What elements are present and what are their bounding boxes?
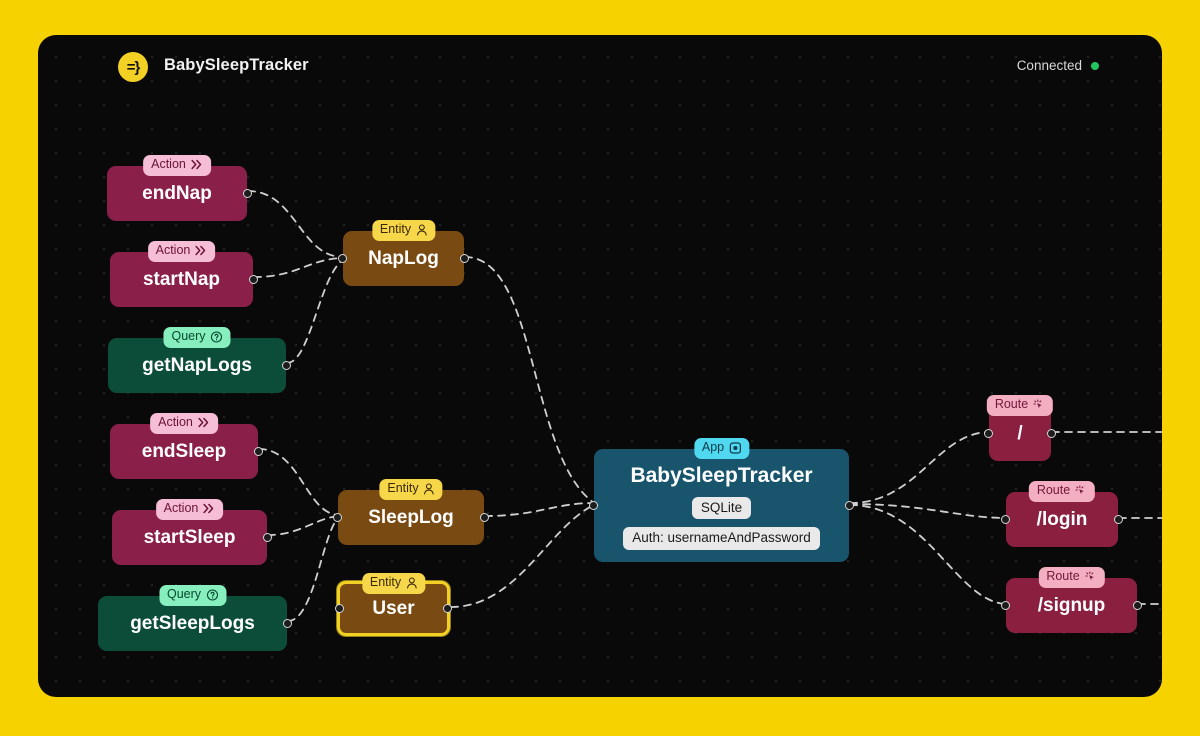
node-startSleep[interactable]: Action startSleep <box>112 510 267 565</box>
cursor-click-icon <box>1085 571 1097 583</box>
node-endNap[interactable]: Action endNap <box>107 166 247 221</box>
node-title: startNap <box>143 269 220 291</box>
badge-route: Route <box>1038 567 1104 588</box>
node-title: /login <box>1037 509 1088 531</box>
port-right[interactable] <box>443 604 452 613</box>
node-startNap[interactable]: Action startNap <box>110 252 253 307</box>
badge-label: App <box>702 440 724 456</box>
port-left[interactable] <box>589 501 598 510</box>
chevrons-right-icon <box>191 159 203 170</box>
node-title: endSleep <box>142 441 226 463</box>
node-route-root[interactable]: Route / <box>989 406 1051 461</box>
port-left[interactable] <box>984 429 993 438</box>
cursor-click-icon <box>1075 485 1087 497</box>
badge-label: Query <box>171 329 205 345</box>
status-indicator-dot <box>1091 62 1099 70</box>
node-title: NapLog <box>368 248 439 270</box>
port-left[interactable] <box>338 254 347 263</box>
user-icon <box>424 483 435 495</box>
page-title: BabySleepTracker <box>164 56 309 75</box>
badge-label: Entity <box>387 481 418 497</box>
badge-label: Action <box>158 415 193 431</box>
node-title: / <box>1017 423 1022 445</box>
status-label: Connected <box>1017 58 1082 73</box>
chevrons-right-icon <box>195 245 207 256</box>
badge-action: Action <box>143 155 211 176</box>
port-right[interactable] <box>845 501 854 510</box>
node-title: startSleep <box>144 527 236 549</box>
chevrons-right-icon <box>198 417 210 428</box>
node-title: endNap <box>142 183 212 205</box>
badge-label: Action <box>164 501 199 517</box>
badge-query: Query <box>159 585 226 606</box>
badge-entity: Entity <box>372 220 435 241</box>
badge-label: Action <box>156 243 191 259</box>
app-square-icon <box>729 442 741 454</box>
node-endSleep[interactable]: Action endSleep <box>110 424 258 479</box>
port-right[interactable] <box>254 447 263 456</box>
port-right[interactable] <box>283 619 292 628</box>
port-right[interactable] <box>282 361 291 370</box>
badge-entity: Entity <box>379 479 442 500</box>
badge-label: Route <box>1046 569 1079 585</box>
badge-label: Route <box>1037 483 1070 499</box>
badge-route: Route <box>1029 481 1095 502</box>
badge-label: Entity <box>380 222 411 238</box>
node-User[interactable]: Entity User <box>337 581 450 636</box>
question-circle-icon <box>206 589 218 601</box>
port-right[interactable] <box>1114 515 1123 524</box>
node-title: /signup <box>1038 595 1106 617</box>
node-NapLog[interactable]: Entity NapLog <box>343 231 464 286</box>
port-left[interactable] <box>1001 515 1010 524</box>
badge-query: Query <box>163 327 230 348</box>
node-title: getSleepLogs <box>130 613 255 635</box>
chevrons-right-icon <box>203 503 215 514</box>
node-SleepLog[interactable]: Entity SleepLog <box>338 490 484 545</box>
node-title: getNapLogs <box>142 355 252 377</box>
port-left[interactable] <box>1001 601 1010 610</box>
node-getNapLogs[interactable]: Query getNapLogs <box>108 338 286 393</box>
user-icon <box>406 577 417 589</box>
badge-entity: Entity <box>362 573 425 594</box>
port-right[interactable] <box>263 533 272 542</box>
port-right[interactable] <box>1133 601 1142 610</box>
port-right[interactable] <box>480 513 489 522</box>
user-icon <box>416 224 427 236</box>
badge-label: Route <box>995 397 1028 413</box>
node-route-signup[interactable]: Route /signup <box>1006 578 1137 633</box>
app-header: =} BabySleepTracker Connected <box>38 35 1162 97</box>
node-getSleepLogs[interactable]: Query getSleepLogs <box>98 596 287 651</box>
badge-action: Action <box>156 499 224 520</box>
badge-label: Entity <box>370 575 401 591</box>
badge-action: Action <box>148 241 216 262</box>
chip-auth: Auth: usernameAndPassword <box>623 527 820 550</box>
node-app-BabySleepTracker[interactable]: App BabySleepTracker SQLite Auth: userna… <box>594 449 849 562</box>
app-window: =} BabySleepTracker Connected <box>0 0 1200 736</box>
port-right[interactable] <box>1047 429 1056 438</box>
port-right[interactable] <box>249 275 258 284</box>
graph-canvas[interactable]: Action endNap Action startNap <box>38 35 1162 697</box>
logo-glyph: =} <box>127 59 140 76</box>
graph-panel: =} BabySleepTracker Connected <box>38 35 1162 697</box>
chip-database: SQLite <box>692 497 751 520</box>
badge-route: Route <box>987 395 1053 416</box>
port-right[interactable] <box>243 189 252 198</box>
node-title: User <box>372 598 414 620</box>
connection-status: Connected <box>1017 58 1099 73</box>
badge-action: Action <box>150 413 218 434</box>
cursor-click-icon <box>1033 399 1045 411</box>
port-right[interactable] <box>460 254 469 263</box>
wasp-logo-icon: =} <box>118 52 148 82</box>
badge-label: Query <box>167 587 201 603</box>
node-title: BabySleepTracker <box>630 464 812 488</box>
port-left[interactable] <box>333 513 342 522</box>
badge-app: App <box>694 438 749 459</box>
badge-label: Action <box>151 157 186 173</box>
node-title: SleepLog <box>368 507 454 529</box>
node-route-login[interactable]: Route /login <box>1006 492 1118 547</box>
question-circle-icon <box>211 331 223 343</box>
port-left[interactable] <box>335 604 344 613</box>
